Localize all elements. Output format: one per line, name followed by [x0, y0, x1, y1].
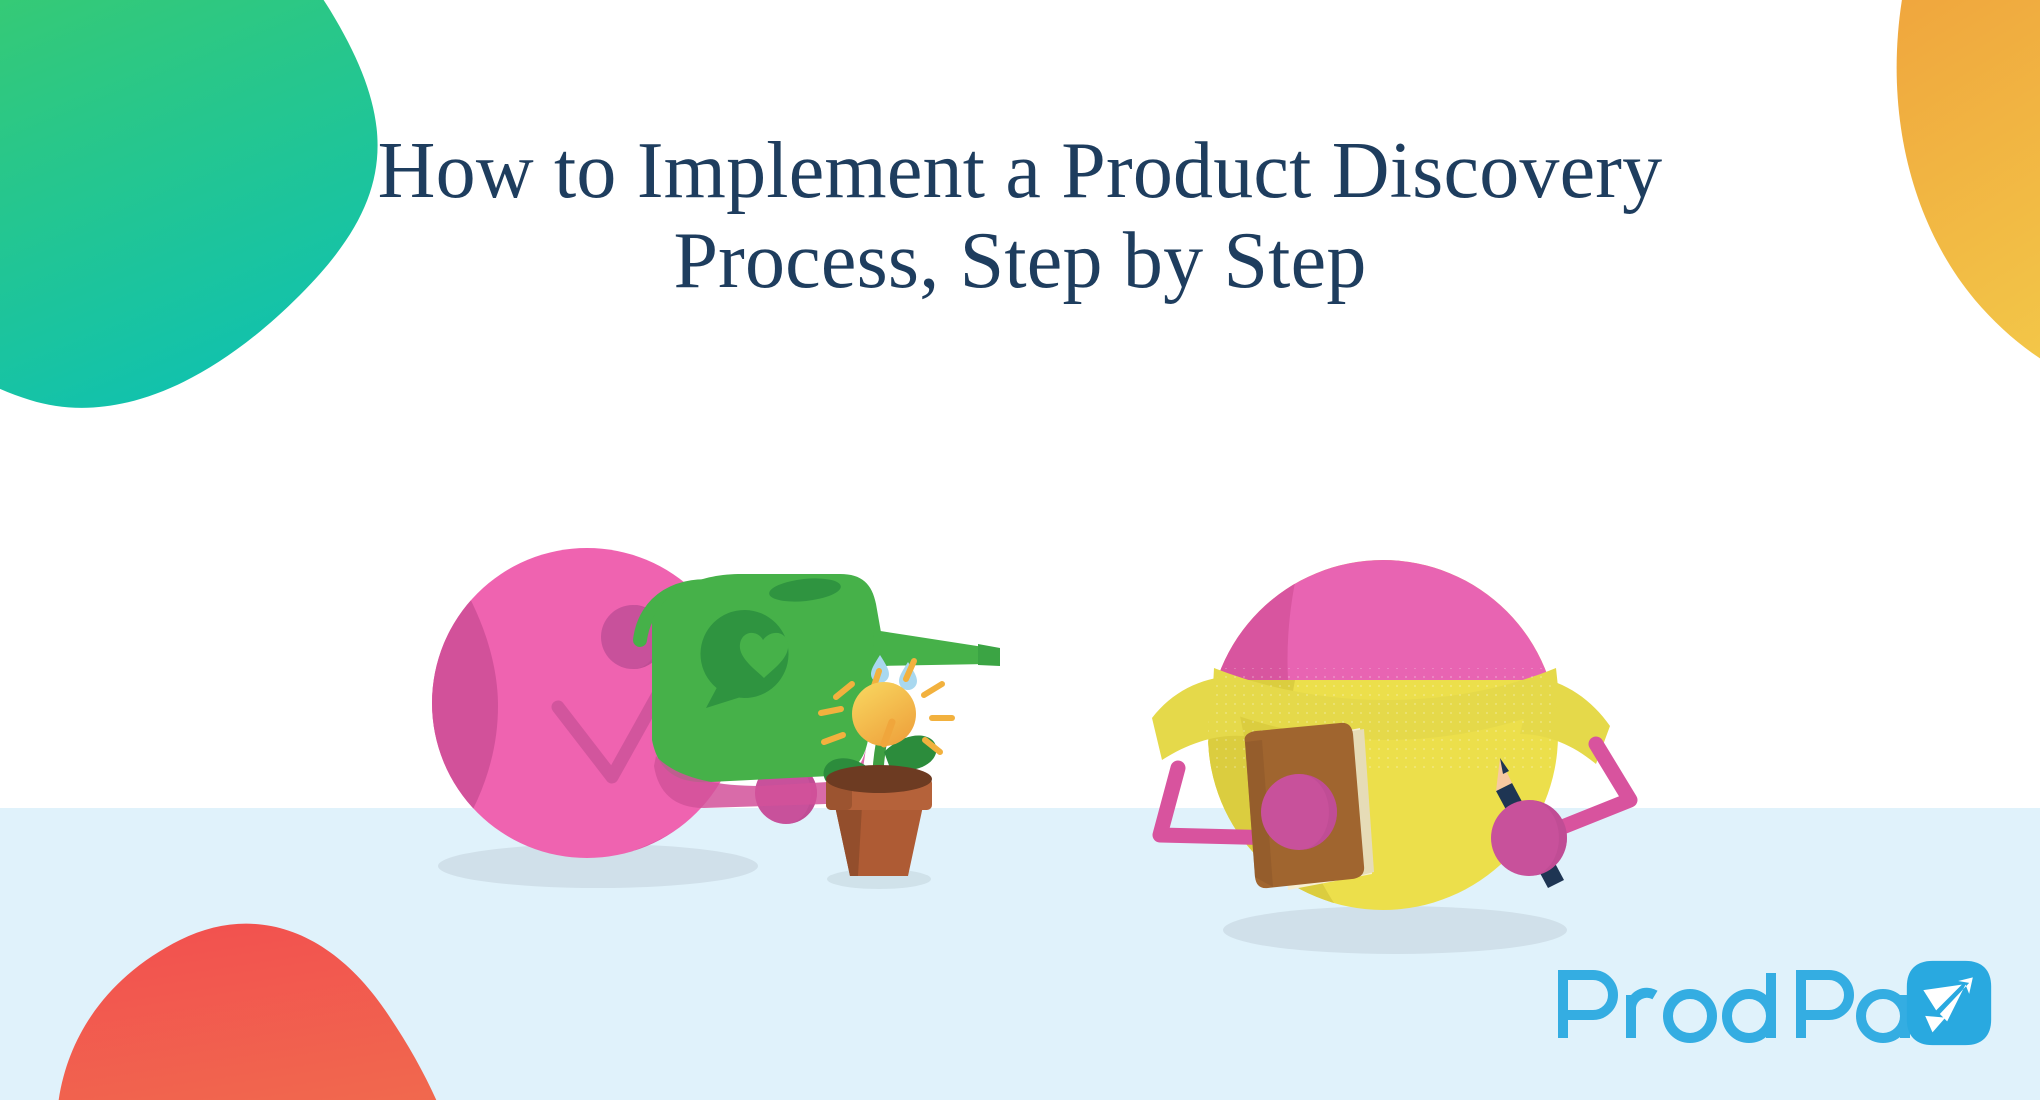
yellow-character-shadow	[1223, 906, 1567, 954]
illustration-scene	[0, 0, 2040, 1100]
slide-canvas: How to Implement a Product Discovery Pro…	[0, 0, 2040, 1100]
yellow-character-bandana	[1152, 668, 1610, 768]
pot-soil	[826, 765, 932, 793]
bandana-texture	[1152, 668, 1610, 768]
